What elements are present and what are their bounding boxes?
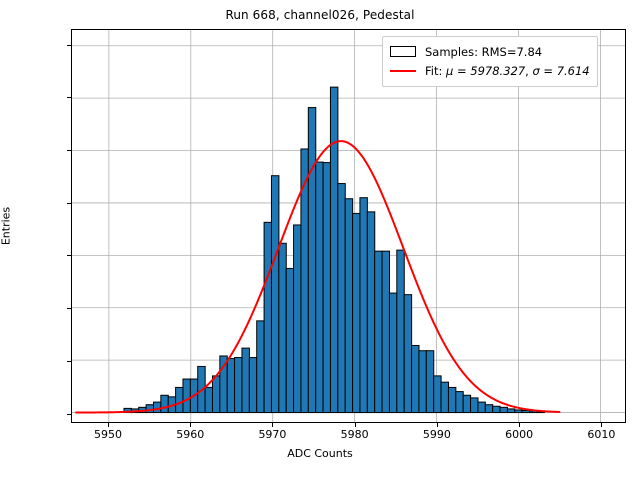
plot-area bbox=[71, 29, 626, 423]
legend-fit-sigma: σ = 7.614 bbox=[532, 64, 589, 78]
x-axis-tick-label: 5970 bbox=[237, 428, 307, 441]
x-axis-tick-label: 5950 bbox=[73, 428, 143, 441]
legend-fit-prefix: Fit: bbox=[425, 64, 446, 78]
legend-fit-mu: μ = 5978.327 bbox=[446, 64, 525, 78]
x-axis-tick-mark bbox=[519, 423, 520, 427]
y-axis-label: Entries bbox=[0, 207, 13, 245]
x-axis-tick-mark bbox=[190, 423, 191, 427]
legend-line-swatch-icon bbox=[390, 65, 416, 76]
gaussian-fit-curve bbox=[72, 30, 625, 422]
x-axis-tick-mark bbox=[437, 423, 438, 427]
x-axis-tick-label: 5990 bbox=[402, 428, 472, 441]
legend-label-fit: Fit: μ = 5978.327, σ = 7.614 bbox=[425, 64, 590, 78]
legend-patch-swatch-icon bbox=[390, 46, 416, 57]
x-axis-tick-mark bbox=[108, 423, 109, 427]
x-axis-tick-label: 5960 bbox=[155, 428, 225, 441]
legend-item-samples: Samples: RMS=7.84 bbox=[390, 42, 590, 61]
chart-figure: Run 668, channel026, Pedestal Entries AD… bbox=[0, 0, 640, 480]
legend-item-fit: Fit: μ = 5978.327, σ = 7.614 bbox=[390, 61, 590, 80]
x-axis-tick-mark bbox=[355, 423, 356, 427]
x-axis-tick-label: 5980 bbox=[320, 428, 390, 441]
x-axis-label: ADC Counts bbox=[0, 447, 640, 460]
x-axis-tick-mark bbox=[272, 423, 273, 427]
x-axis-tick-label: 6010 bbox=[566, 428, 636, 441]
chart-title: Run 668, channel026, Pedestal bbox=[0, 8, 640, 22]
x-axis-tick-mark bbox=[601, 423, 602, 427]
chart-legend: Samples: RMS=7.84 Fit: μ = 5978.327, σ =… bbox=[382, 36, 598, 87]
x-axis-tick-label: 6000 bbox=[484, 428, 554, 441]
legend-label-samples: Samples: RMS=7.84 bbox=[425, 45, 542, 59]
